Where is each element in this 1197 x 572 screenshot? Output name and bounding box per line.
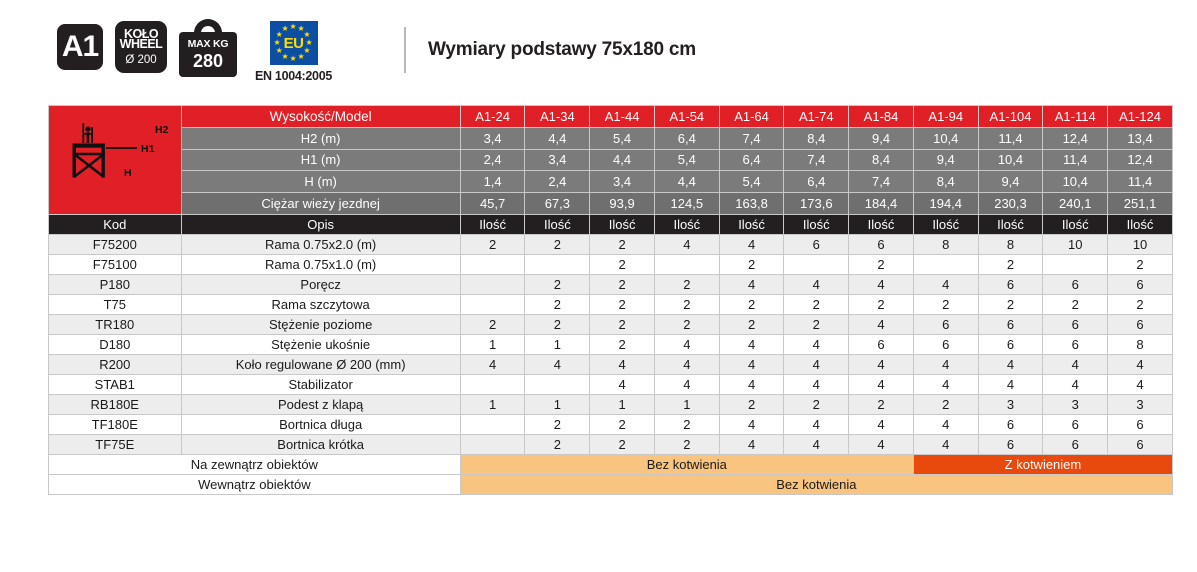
svg-text:H: H bbox=[124, 167, 132, 179]
item-description: Stabilizator bbox=[181, 375, 460, 395]
item-quantity: 4 bbox=[913, 355, 978, 375]
table-row: R200Koło regulowane Ø 200 (mm)4444444444… bbox=[49, 355, 1173, 375]
item-quantity bbox=[460, 435, 525, 455]
item-quantity: 4 bbox=[849, 435, 914, 455]
table-row: F75100Rama 0.75x1.0 (m)22222 bbox=[49, 255, 1173, 275]
spec-value: 194,4 bbox=[913, 193, 978, 215]
spec-row-label: H (m) bbox=[181, 171, 460, 193]
spec-value: 8,4 bbox=[913, 171, 978, 193]
spec-value: 5,4 bbox=[590, 127, 655, 149]
item-description: Rama 0.75x2.0 (m) bbox=[181, 235, 460, 255]
item-quantity: 1 bbox=[654, 395, 719, 415]
item-quantity: 4 bbox=[913, 435, 978, 455]
column-header-quantity: Ilość bbox=[654, 215, 719, 235]
specification-table: H2H1HWysokość/ModelA1-24A1-34A1-44A1-54A… bbox=[48, 105, 1173, 495]
model-header-a1-54: A1-54 bbox=[654, 106, 719, 128]
spec-value: 184,4 bbox=[849, 193, 914, 215]
model-header-a1-84: A1-84 bbox=[849, 106, 914, 128]
item-quantity: 4 bbox=[590, 355, 655, 375]
eu-star-icon: ★ bbox=[274, 39, 281, 47]
item-quantity: 2 bbox=[590, 315, 655, 335]
spec-value: 5,4 bbox=[719, 171, 784, 193]
item-quantity: 2 bbox=[525, 275, 590, 295]
item-quantity: 6 bbox=[1108, 275, 1173, 295]
model-header-a1-64: A1-64 bbox=[719, 106, 784, 128]
wheel-diameter-label: Ø 200 bbox=[125, 55, 156, 67]
spec-value: 173,6 bbox=[784, 193, 849, 215]
item-quantity: 8 bbox=[1108, 335, 1173, 355]
item-quantity: 6 bbox=[978, 415, 1043, 435]
item-quantity: 2 bbox=[590, 435, 655, 455]
column-header-quantity: Ilość bbox=[1043, 215, 1108, 235]
item-quantity: 2 bbox=[1043, 295, 1108, 315]
item-quantity: 2 bbox=[978, 295, 1043, 315]
model-header-a1-124: A1-124 bbox=[1108, 106, 1173, 128]
eu-star-icon: ★ bbox=[282, 25, 289, 33]
item-quantity: 2 bbox=[1108, 255, 1173, 275]
item-quantity: 4 bbox=[784, 435, 849, 455]
item-quantity bbox=[525, 375, 590, 395]
spec-value: 11,4 bbox=[1108, 171, 1173, 193]
spec-value: 6,4 bbox=[654, 127, 719, 149]
item-quantity: 4 bbox=[784, 375, 849, 395]
item-code: F75100 bbox=[49, 255, 182, 275]
item-quantity: 2 bbox=[460, 315, 525, 335]
item-code: TF75E bbox=[49, 435, 182, 455]
item-quantity: 4 bbox=[849, 375, 914, 395]
item-quantity: 2 bbox=[849, 255, 914, 275]
column-header-quantity: Ilość bbox=[525, 215, 590, 235]
spec-value: 4,4 bbox=[525, 127, 590, 149]
max-load-label: MAX KG bbox=[188, 39, 229, 50]
item-quantity: 4 bbox=[460, 355, 525, 375]
item-quantity: 2 bbox=[590, 255, 655, 275]
spec-value: 4,4 bbox=[590, 149, 655, 171]
item-code: TR180 bbox=[49, 315, 182, 335]
spec-value: 8,4 bbox=[849, 149, 914, 171]
item-quantity: 4 bbox=[719, 275, 784, 295]
item-quantity: 8 bbox=[913, 235, 978, 255]
item-code: F75200 bbox=[49, 235, 182, 255]
spec-value: 163,8 bbox=[719, 193, 784, 215]
spec-value: 45,7 bbox=[460, 193, 525, 215]
item-quantity bbox=[460, 375, 525, 395]
spec-value: 240,1 bbox=[1043, 193, 1108, 215]
en-standard-label: EN 1004:2005 bbox=[255, 69, 332, 83]
item-quantity: 1 bbox=[460, 335, 525, 355]
item-quantity: 2 bbox=[784, 315, 849, 335]
item-quantity: 1 bbox=[525, 395, 590, 415]
item-quantity: 4 bbox=[654, 355, 719, 375]
spec-value: 2,4 bbox=[460, 149, 525, 171]
spec-value: 67,3 bbox=[525, 193, 590, 215]
item-quantity: 2 bbox=[590, 275, 655, 295]
spec-row-label: Ciężar wieży jezdnej bbox=[181, 193, 460, 215]
item-code: D180 bbox=[49, 335, 182, 355]
item-quantity: 2 bbox=[525, 435, 590, 455]
anchoring-segment: Z kotwieniem bbox=[913, 455, 1172, 475]
eu-flag-label: EU bbox=[284, 35, 304, 52]
eu-star-icon: ★ bbox=[290, 23, 297, 31]
item-quantity: 6 bbox=[1043, 335, 1108, 355]
item-quantity: 6 bbox=[784, 235, 849, 255]
item-quantity: 2 bbox=[978, 255, 1043, 275]
spec-value: 124,5 bbox=[654, 193, 719, 215]
table-row: D180Stężenie ukośnie11244466668 bbox=[49, 335, 1173, 355]
spec-value: 13,4 bbox=[1108, 127, 1173, 149]
item-quantity: 2 bbox=[525, 295, 590, 315]
item-quantity: 4 bbox=[978, 375, 1043, 395]
dimension-diagram: H2H1H bbox=[49, 106, 182, 215]
item-description: Rama szczytowa bbox=[181, 295, 460, 315]
spec-value: 251,1 bbox=[1108, 193, 1173, 215]
item-quantity: 2 bbox=[913, 395, 978, 415]
item-quantity: 2 bbox=[590, 415, 655, 435]
column-header-code: Kod bbox=[49, 215, 182, 235]
item-description: Poręcz bbox=[181, 275, 460, 295]
item-quantity bbox=[525, 255, 590, 275]
anchoring-segment: Bez kotwienia bbox=[460, 475, 1172, 495]
spec-value: 12,4 bbox=[1043, 127, 1108, 149]
model-header-a1-44: A1-44 bbox=[590, 106, 655, 128]
item-quantity: 1 bbox=[460, 395, 525, 415]
wheel-badge: KOŁO WHEEL Ø 200 bbox=[115, 21, 167, 73]
column-header-quantity: Ilość bbox=[784, 215, 849, 235]
item-quantity bbox=[1043, 255, 1108, 275]
item-quantity: 8 bbox=[978, 235, 1043, 255]
spec-value: 3,4 bbox=[460, 127, 525, 149]
item-quantity: 4 bbox=[654, 235, 719, 255]
spec-value: 93,9 bbox=[590, 193, 655, 215]
spec-row: H2 (m)3,44,45,46,47,48,49,410,411,412,41… bbox=[49, 127, 1173, 149]
item-quantity: 4 bbox=[719, 435, 784, 455]
column-header-quantity: Ilość bbox=[913, 215, 978, 235]
spec-row-label: H2 (m) bbox=[181, 127, 460, 149]
item-quantity: 2 bbox=[1108, 295, 1173, 315]
models-header-row: H2H1HWysokość/ModelA1-24A1-34A1-44A1-54A… bbox=[49, 106, 1173, 128]
spec-value: 10,4 bbox=[978, 149, 1043, 171]
eu-star-icon: ★ bbox=[290, 55, 297, 63]
column-header-quantity: Ilość bbox=[849, 215, 914, 235]
item-quantity: 4 bbox=[849, 355, 914, 375]
item-quantity: 6 bbox=[1043, 415, 1108, 435]
spec-value: 3,4 bbox=[590, 171, 655, 193]
item-quantity: 4 bbox=[654, 335, 719, 355]
item-quantity: 4 bbox=[654, 375, 719, 395]
column-header-quantity: Ilość bbox=[978, 215, 1043, 235]
spec-value: 7,4 bbox=[849, 171, 914, 193]
column-header-quantity: Ilość bbox=[1108, 215, 1173, 235]
item-quantity bbox=[460, 295, 525, 315]
title-divider bbox=[404, 27, 406, 73]
item-quantity: 4 bbox=[719, 355, 784, 375]
item-quantity: 4 bbox=[978, 355, 1043, 375]
item-quantity bbox=[460, 415, 525, 435]
spec-value: 9,4 bbox=[913, 149, 978, 171]
item-description: Bortnica krótka bbox=[181, 435, 460, 455]
item-quantity: 6 bbox=[849, 235, 914, 255]
item-quantity: 6 bbox=[1108, 315, 1173, 335]
column-header-quantity: Ilość bbox=[719, 215, 784, 235]
model-header-a1-94: A1-94 bbox=[913, 106, 978, 128]
table-row: T75Rama szczytowa2222222222 bbox=[49, 295, 1173, 315]
item-quantity bbox=[460, 255, 525, 275]
item-quantity: 6 bbox=[978, 435, 1043, 455]
item-quantity: 4 bbox=[784, 275, 849, 295]
item-quantity: 2 bbox=[784, 395, 849, 415]
item-quantity: 6 bbox=[978, 315, 1043, 335]
column-header-quantity: Ilość bbox=[590, 215, 655, 235]
item-quantity: 2 bbox=[849, 395, 914, 415]
model-header-a1-34: A1-34 bbox=[525, 106, 590, 128]
eu-star-icon: ★ bbox=[276, 47, 283, 55]
item-quantity: 4 bbox=[913, 375, 978, 395]
anchoring-segment: Bez kotwienia bbox=[460, 455, 913, 475]
item-quantity bbox=[913, 255, 978, 275]
item-quantity: 4 bbox=[1108, 375, 1173, 395]
item-description: Stężenie poziome bbox=[181, 315, 460, 335]
table-row: RB180EPodest z klapą11112222333 bbox=[49, 395, 1173, 415]
item-quantity: 4 bbox=[590, 375, 655, 395]
item-quantity: 2 bbox=[525, 235, 590, 255]
item-quantity: 2 bbox=[913, 295, 978, 315]
item-code: P180 bbox=[49, 275, 182, 295]
table-row: TF75EBortnica krótka2224444666 bbox=[49, 435, 1173, 455]
item-quantity: 3 bbox=[978, 395, 1043, 415]
table-row: P180Poręcz2224444666 bbox=[49, 275, 1173, 295]
spec-value: 11,4 bbox=[978, 127, 1043, 149]
spec-value: 10,4 bbox=[913, 127, 978, 149]
item-quantity: 6 bbox=[1043, 275, 1108, 295]
item-description: Stężenie ukośnie bbox=[181, 335, 460, 355]
item-description: Podest z klapą bbox=[181, 395, 460, 415]
spec-value: 9,4 bbox=[978, 171, 1043, 193]
spec-value: 6,4 bbox=[784, 171, 849, 193]
item-quantity: 4 bbox=[849, 415, 914, 435]
eu-star-icon: ★ bbox=[298, 53, 305, 61]
item-quantity: 1 bbox=[525, 335, 590, 355]
spec-value: 9,4 bbox=[849, 127, 914, 149]
weight-body-icon: MAX KG 280 bbox=[179, 32, 237, 77]
item-quantity: 6 bbox=[849, 335, 914, 355]
anchoring-label: Na zewnątrz obiektów bbox=[49, 455, 461, 475]
wheel-badge-label-en: WHEEL bbox=[120, 38, 163, 51]
item-description: Koło regulowane Ø 200 (mm) bbox=[181, 355, 460, 375]
item-code: TF180E bbox=[49, 415, 182, 435]
item-quantity: 6 bbox=[1043, 435, 1108, 455]
max-load-badge: MAX KG 280 bbox=[179, 19, 237, 79]
model-header-a1-24: A1-24 bbox=[460, 106, 525, 128]
item-quantity: 6 bbox=[1043, 315, 1108, 335]
item-quantity: 4 bbox=[1043, 375, 1108, 395]
item-description: Rama 0.75x1.0 (m) bbox=[181, 255, 460, 275]
item-quantity: 4 bbox=[913, 275, 978, 295]
spec-value: 10,4 bbox=[1043, 171, 1108, 193]
item-quantity: 1 bbox=[590, 395, 655, 415]
item-quantity: 4 bbox=[849, 315, 914, 335]
item-quantity: 10 bbox=[1108, 235, 1173, 255]
spec-value: 7,4 bbox=[719, 127, 784, 149]
item-code: RB180E bbox=[49, 395, 182, 415]
eu-certification-badge: EU ★★★★★★★★★★★★ EN 1004:2005 bbox=[255, 21, 332, 83]
spec-value: 3,4 bbox=[525, 149, 590, 171]
model-badge-label: A1 bbox=[62, 30, 98, 64]
model-header-a1-104: A1-104 bbox=[978, 106, 1043, 128]
item-quantity: 2 bbox=[525, 415, 590, 435]
item-quantity: 3 bbox=[1108, 395, 1173, 415]
anchoring-row: Wewnątrz obiektówBez kotwienia bbox=[49, 475, 1173, 495]
model-badge: A1 bbox=[57, 24, 103, 70]
item-code: R200 bbox=[49, 355, 182, 375]
model-header-a1-114: A1-114 bbox=[1043, 106, 1108, 128]
anchoring-row: Na zewnątrz obiektówBez kotwieniaZ kotwi… bbox=[49, 455, 1173, 475]
item-quantity: 4 bbox=[719, 235, 784, 255]
table-row: TR180Stężenie poziome22222246666 bbox=[49, 315, 1173, 335]
item-quantity: 2 bbox=[654, 275, 719, 295]
spec-value: 6,4 bbox=[719, 149, 784, 171]
item-quantity: 6 bbox=[913, 315, 978, 335]
item-quantity: 4 bbox=[719, 335, 784, 355]
page-header: A1 KOŁO WHEEL Ø 200 MAX KG 280 EU ★★★★★★… bbox=[0, 0, 1197, 100]
item-quantity: 4 bbox=[784, 355, 849, 375]
max-load-value: 280 bbox=[193, 52, 223, 70]
item-quantity: 2 bbox=[784, 295, 849, 315]
item-code: STAB1 bbox=[49, 375, 182, 395]
item-quantity: 2 bbox=[525, 315, 590, 335]
spec-row: H (m)1,42,43,44,45,46,47,48,49,410,411,4 bbox=[49, 171, 1173, 193]
item-quantity bbox=[460, 275, 525, 295]
badge-strip: A1 KOŁO WHEEL Ø 200 MAX KG 280 EU ★★★★★★… bbox=[57, 16, 332, 84]
item-quantity: 2 bbox=[719, 255, 784, 275]
column-header-row: KodOpisIlośćIlośćIlośćIlośćIlośćIlośćIlo… bbox=[49, 215, 1173, 235]
item-quantity: 4 bbox=[525, 355, 590, 375]
item-quantity: 4 bbox=[719, 375, 784, 395]
spec-value: 2,4 bbox=[525, 171, 590, 193]
item-quantity: 2 bbox=[590, 295, 655, 315]
item-quantity: 2 bbox=[654, 295, 719, 315]
item-quantity bbox=[784, 255, 849, 275]
spec-value: 4,4 bbox=[654, 171, 719, 193]
spec-value: 12,4 bbox=[1108, 149, 1173, 171]
spec-row-label: H1 (m) bbox=[181, 149, 460, 171]
item-quantity: 2 bbox=[590, 335, 655, 355]
item-quantity: 2 bbox=[849, 295, 914, 315]
item-quantity: 6 bbox=[978, 335, 1043, 355]
column-header-description: Opis bbox=[181, 215, 460, 235]
item-quantity: 2 bbox=[460, 235, 525, 255]
spec-value: 5,4 bbox=[654, 149, 719, 171]
models-header-label: Wysokość/Model bbox=[181, 106, 460, 128]
svg-text:H2: H2 bbox=[155, 124, 169, 136]
spec-row: H1 (m)2,43,44,45,46,47,48,49,410,411,412… bbox=[49, 149, 1173, 171]
item-quantity: 6 bbox=[913, 335, 978, 355]
item-quantity: 4 bbox=[849, 275, 914, 295]
column-header-quantity: Ilość bbox=[460, 215, 525, 235]
item-quantity: 4 bbox=[1108, 355, 1173, 375]
spec-value: 8,4 bbox=[784, 127, 849, 149]
item-quantity: 2 bbox=[590, 235, 655, 255]
item-quantity: 2 bbox=[719, 315, 784, 335]
spec-row: Ciężar wieży jezdnej45,767,393,9124,5163… bbox=[49, 193, 1173, 215]
spec-value: 230,3 bbox=[978, 193, 1043, 215]
table-row: TF180EBortnica długa2224444666 bbox=[49, 415, 1173, 435]
page-title: Wymiary podstawy 75x180 cm bbox=[428, 39, 696, 61]
item-quantity: 2 bbox=[719, 295, 784, 315]
item-quantity: 2 bbox=[654, 415, 719, 435]
item-quantity: 4 bbox=[1043, 355, 1108, 375]
item-quantity: 2 bbox=[654, 435, 719, 455]
item-quantity: 4 bbox=[913, 415, 978, 435]
item-quantity: 10 bbox=[1043, 235, 1108, 255]
item-quantity: 6 bbox=[978, 275, 1043, 295]
table-row: F75200Rama 0.75x2.0 (m)2224466881010 bbox=[49, 235, 1173, 255]
item-quantity: 3 bbox=[1043, 395, 1108, 415]
item-quantity: 6 bbox=[1108, 415, 1173, 435]
item-quantity: 4 bbox=[719, 415, 784, 435]
item-code: T75 bbox=[49, 295, 182, 315]
item-quantity: 2 bbox=[654, 315, 719, 335]
anchoring-label: Wewnątrz obiektów bbox=[49, 475, 461, 495]
spec-value: 11,4 bbox=[1043, 149, 1108, 171]
spec-value: 7,4 bbox=[784, 149, 849, 171]
item-quantity bbox=[654, 255, 719, 275]
item-quantity: 2 bbox=[719, 395, 784, 415]
item-quantity: 4 bbox=[784, 335, 849, 355]
item-description: Bortnica długa bbox=[181, 415, 460, 435]
table-row: STAB1Stabilizator444444444 bbox=[49, 375, 1173, 395]
spec-value: 1,4 bbox=[460, 171, 525, 193]
svg-text:H1: H1 bbox=[141, 143, 155, 155]
eu-flag-icon: EU ★★★★★★★★★★★★ bbox=[270, 21, 318, 65]
model-header-a1-74: A1-74 bbox=[784, 106, 849, 128]
item-quantity: 6 bbox=[1108, 435, 1173, 455]
item-quantity: 4 bbox=[784, 415, 849, 435]
